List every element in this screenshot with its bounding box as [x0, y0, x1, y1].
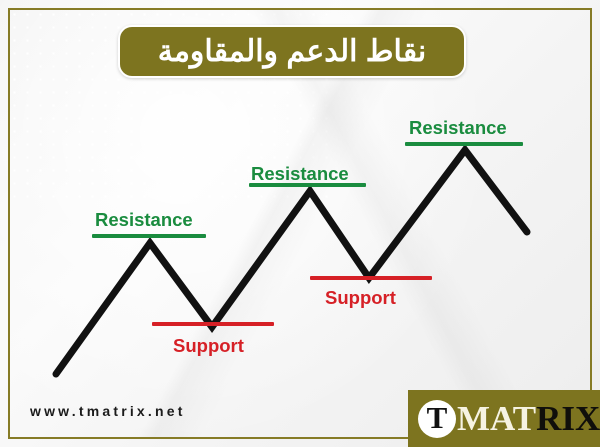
price-zigzag-chart — [0, 0, 600, 447]
logo-word-part-2: RIX — [536, 399, 600, 438]
tmatrix-circle-icon: T — [418, 400, 456, 438]
level-label-resistance-3: Resistance — [409, 119, 507, 138]
level-bar-support-2 — [310, 276, 432, 280]
logo-wordmark: MATRIX — [457, 401, 600, 436]
level-bar-support-1 — [152, 322, 274, 326]
infographic-canvas: نقاط الدعم والمقاومة ResistanceSupportRe… — [0, 0, 600, 447]
level-label-resistance-1: Resistance — [95, 211, 193, 230]
site-url[interactable]: www.tmatrix.net — [30, 403, 186, 419]
level-bar-resistance-1 — [92, 234, 206, 238]
level-label-resistance-2: Resistance — [251, 165, 349, 184]
level-label-support-1: Support — [173, 337, 244, 356]
logo-letter-t: T — [418, 400, 456, 438]
brand-logo[interactable]: T MATRIX — [408, 390, 600, 447]
logo-word-part-1: MAT — [457, 399, 536, 438]
level-bar-resistance-3 — [405, 142, 523, 146]
level-label-support-2: Support — [325, 289, 396, 308]
